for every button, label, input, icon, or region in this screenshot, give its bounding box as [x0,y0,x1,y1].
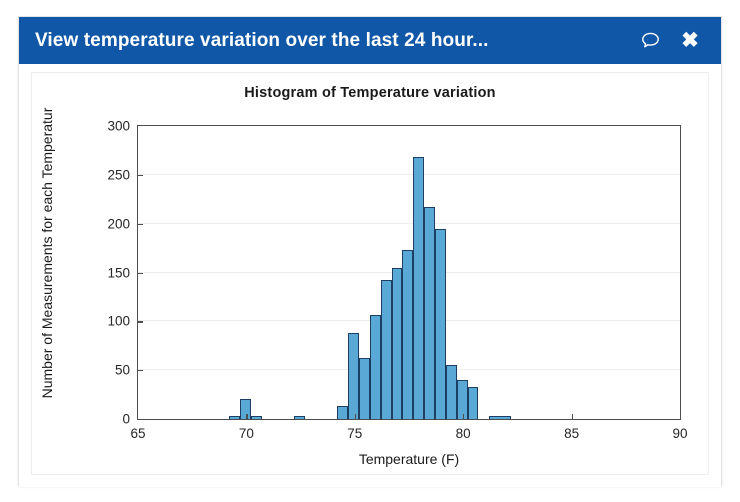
chart-card: Histogram of Temperature variation Numbe… [31,72,709,475]
y-tick-mark [138,273,143,274]
histogram-bar [251,416,262,419]
histogram-figure: Histogram of Temperature variation Numbe… [32,73,708,474]
x-tick-label: 65 [130,426,145,441]
x-tick-mark [355,414,356,419]
histogram-bar [424,207,435,419]
x-tick-mark [246,414,247,419]
histogram-bar [240,399,251,419]
histogram-bar [402,250,413,419]
histogram-bar [435,229,446,419]
histogram-bar [381,280,392,419]
panel-titlebar: View temperature variation over the last… [19,17,721,64]
gridline-y [138,223,680,224]
histogram-bar [370,315,381,419]
y-tick-label: 300 [107,119,130,134]
y-tick-label: 100 [107,314,130,329]
x-tick-label: 75 [347,426,362,441]
y-tick-label: 50 [115,363,130,378]
chart-title: Histogram of Temperature variation [32,85,708,101]
y-tick-mark [138,224,143,225]
x-tick-label: 80 [456,426,471,441]
histogram-bar [359,358,370,419]
y-tick-label: 150 [107,265,130,280]
x-tick-label: 90 [672,426,687,441]
speech-bubble-icon[interactable] [633,24,667,58]
y-axis-label-wrap: Number of Measurements for each Temperat… [36,73,58,433]
histogram-bar [468,387,479,419]
y-axis-label: Number of Measurements for each Temperat… [39,108,55,399]
histogram-bar [446,365,457,419]
plot-area: 050100150200250300657075808590 [137,125,681,420]
dashboard-panel: View temperature variation over the last… [18,16,722,486]
y-tick-label: 0 [122,412,130,427]
histogram-bar [392,268,403,419]
histogram-bar [489,416,511,419]
x-tick-mark [463,414,464,419]
panel-body: Histogram of Temperature variation Numbe… [19,64,721,487]
y-tick-mark [138,175,143,176]
y-tick-mark [138,321,143,322]
histogram-bar [229,416,240,419]
y-tick-mark [138,370,143,371]
x-tick-label: 70 [239,426,254,441]
histogram-bar [294,416,305,419]
close-glyph: ✖ [681,30,699,51]
x-tick-label: 85 [564,426,579,441]
y-tick-label: 200 [107,216,130,231]
histogram-bar [337,406,348,419]
histogram-bar [348,333,359,419]
histogram-bar [457,380,468,419]
histogram-bar [413,157,424,419]
page-title: View temperature variation over the last… [19,30,633,52]
x-tick-mark [572,414,573,419]
close-icon[interactable]: ✖ [673,24,707,58]
y-tick-label: 250 [107,167,130,182]
x-axis-label: Temperature (F) [137,451,681,467]
gridline-y [138,174,680,175]
